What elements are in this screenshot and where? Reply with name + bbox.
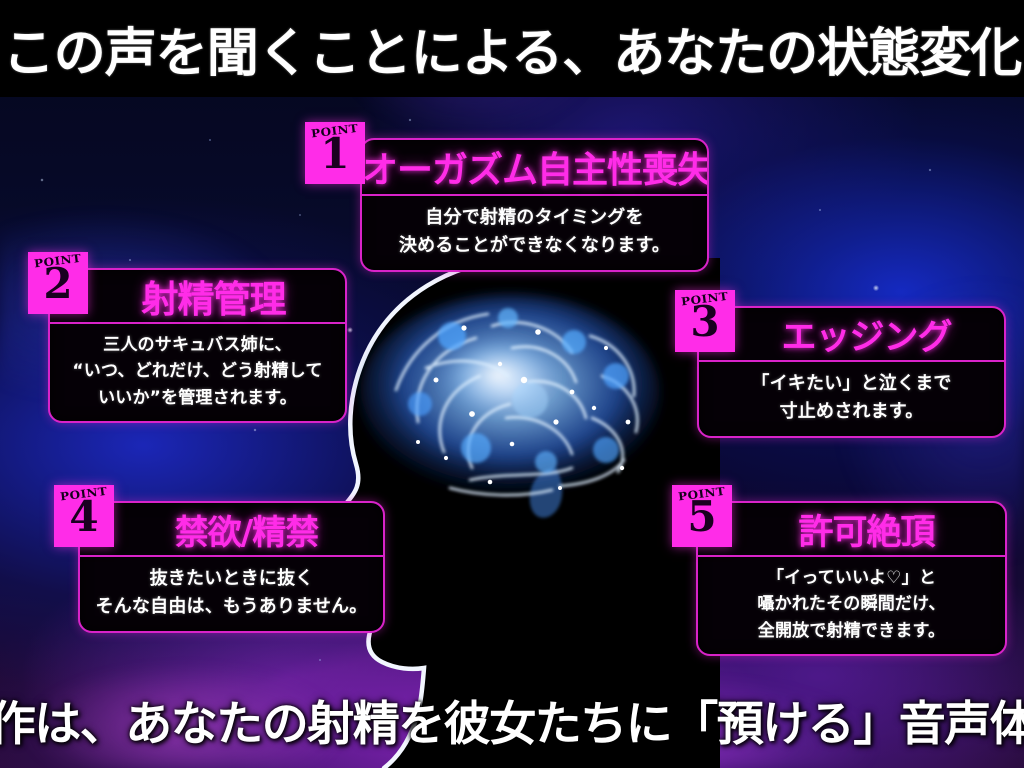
point-card-1-line-1: 自分で射精のタイミングを <box>376 204 693 232</box>
point-badge-5: POINT 5 <box>672 485 732 547</box>
point-card-2-header: 射精管理 <box>50 270 345 324</box>
point-card-5-title: 許可絶頂 <box>698 504 1005 555</box>
point-badge-3-number: 3 <box>690 304 719 341</box>
point-card-4-header: 禁欲/精禁 <box>80 503 383 557</box>
page-title: この声を聞くことによる、あなたの状態変化 <box>3 11 1021 86</box>
point-badge-1-number: 1 <box>320 136 349 173</box>
point-card-2-box: 射精管理 三人のサキュバス姉に、 “いつ、どれだけ、どう射精して いいか”を管理… <box>48 268 347 423</box>
point-badge-4: POINT 4 <box>54 485 114 547</box>
point-badge-3: POINT 3 <box>675 290 735 352</box>
point-card-5-box: 許可絶頂 「イっていいよ♡」と 囁かれたその瞬間だけ、 全開放で射精できます。 <box>696 501 1007 656</box>
infographic-stage: この声を聞くことによる、あなたの状態変化 オーガズム自主性喪失 自分で射精のタイ… <box>0 0 1024 768</box>
footer-caption: 本作は、あなたの射精を彼女たちに「預ける」音声体験 <box>0 685 1024 754</box>
point-card-1-box: オーガズム自主性喪失 自分で射精のタイミングを 決めることができなくなります。 <box>360 138 709 272</box>
point-card-3-title: エッジング <box>699 309 1004 360</box>
point-card-2-body: 三人のサキュバス姉に、 “いつ、どれだけ、どう射精して いいか”を管理されます。 <box>50 324 345 421</box>
point-badge-4-number: 4 <box>69 499 98 536</box>
point-card-2-line-1: 三人のサキュバス姉に、 <box>64 332 331 358</box>
point-card-4-line-2: そんな自由は、もうありません。 <box>94 593 369 621</box>
point-card-3-body: 「イキたい」と泣くまで 寸止めされます。 <box>699 362 1004 436</box>
point-card-1-body: 自分で射精のタイミングを 決めることができなくなります。 <box>362 196 707 270</box>
point-card-4-line-1: 抜きたいときに抜く <box>94 565 369 593</box>
point-badge-5-number: 5 <box>687 499 716 536</box>
point-card-5-line-1: 「イっていいよ♡」と <box>712 565 991 591</box>
point-badge-2: POINT 2 <box>28 252 88 314</box>
point-badge-2-number: 2 <box>43 266 72 303</box>
point-card-2-line-3: いいか”を管理されます。 <box>64 385 331 411</box>
point-card-5-line-3: 全開放で射精できます。 <box>712 618 991 644</box>
title-band: この声を聞くことによる、あなたの状態変化 <box>0 0 1024 97</box>
point-card-5-line-2: 囁かれたその瞬間だけ、 <box>712 591 991 617</box>
point-card-3-header: エッジング <box>699 308 1004 362</box>
point-card-3-line-1: 「イキたい」と泣くまで <box>713 370 990 398</box>
point-card-3-line-2: 寸止めされます。 <box>713 398 990 426</box>
point-card-1-header: オーガズム自主性喪失 <box>362 140 707 196</box>
point-card-5-header: 許可絶頂 <box>698 503 1005 557</box>
point-card-4-box: 禁欲/精禁 抜きたいときに抜く そんな自由は、もうありません。 <box>78 501 385 633</box>
point-card-4-body: 抜きたいときに抜く そんな自由は、もうありません。 <box>80 557 383 631</box>
point-card-5-body: 「イっていいよ♡」と 囁かれたその瞬間だけ、 全開放で射精できます。 <box>698 557 1005 654</box>
point-card-1-title: オーガズム自主性喪失 <box>362 141 707 193</box>
point-badge-1: POINT 1 <box>305 122 365 184</box>
point-card-3-box: エッジング 「イキたい」と泣くまで 寸止めされます。 <box>697 306 1006 438</box>
point-card-1-line-2: 決めることができなくなります。 <box>376 232 693 260</box>
point-card-2-title: 射精管理 <box>50 269 345 323</box>
point-card-2-line-2: “いつ、どれだけ、どう射精して <box>64 358 331 384</box>
footer-band: 本作は、あなたの射精を彼女たちに「預ける」音声体験 <box>0 676 1024 762</box>
point-card-4-title: 禁欲/精禁 <box>80 505 383 554</box>
